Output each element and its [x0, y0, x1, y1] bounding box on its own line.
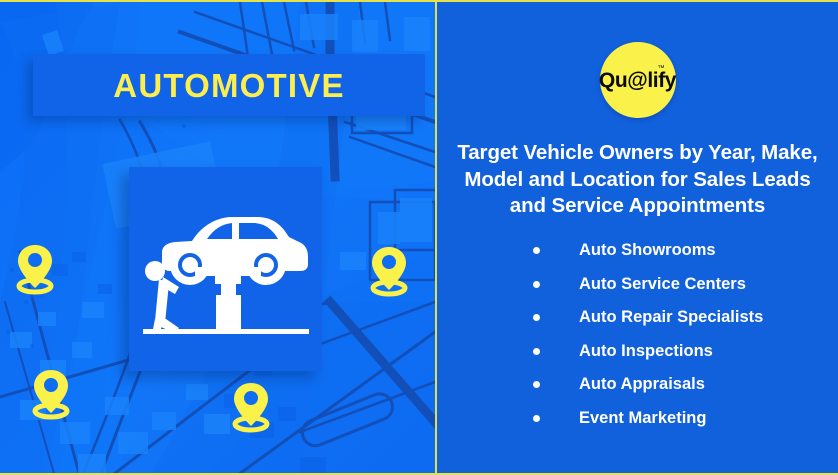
list-item: Auto Showrooms [533, 242, 838, 259]
map-pin-1[interactable] [12, 240, 58, 301]
feature-list: Auto Showrooms Auto Service Centers Auto… [437, 242, 838, 443]
map-pin-icon [28, 365, 74, 421]
qualify-logo[interactable]: Qu@lify ™ [600, 42, 676, 118]
map-pin-3[interactable] [228, 378, 274, 439]
logo-text: Qu@lify [599, 70, 676, 91]
panel-divider [435, 2, 437, 475]
headline: Target Vehicle Owners by Year, Make, Mod… [451, 140, 824, 220]
page-title: AUTOMOTIVE [113, 69, 344, 102]
trademark-symbol: ™ [658, 65, 665, 72]
list-item: Auto Service Centers [533, 276, 838, 293]
content-panel: Qu@lify ™ Target Vehicle Owners by Year,… [437, 2, 838, 475]
list-item: Auto Inspections [533, 343, 838, 360]
automotive-marketing-slide: AUTOMOTIVE [0, 0, 838, 475]
map-pin-icon [366, 242, 412, 298]
map-pin-icon [12, 240, 58, 296]
map-pin-2[interactable] [28, 365, 74, 426]
list-item: Auto Repair Specialists [533, 309, 838, 326]
car-icon-card [129, 167, 322, 371]
list-item: Auto Appraisals [533, 376, 838, 393]
map-pin-icon [228, 378, 274, 434]
map-panel: AUTOMOTIVE [0, 2, 435, 475]
logo-wrapper: Qu@lify ™ [437, 42, 838, 118]
car-on-lift-with-mechanic-icon [129, 167, 322, 371]
list-item: Event Marketing [533, 410, 838, 427]
automotive-title-banner: AUTOMOTIVE [33, 54, 425, 116]
map-pin-4[interactable] [366, 242, 412, 303]
